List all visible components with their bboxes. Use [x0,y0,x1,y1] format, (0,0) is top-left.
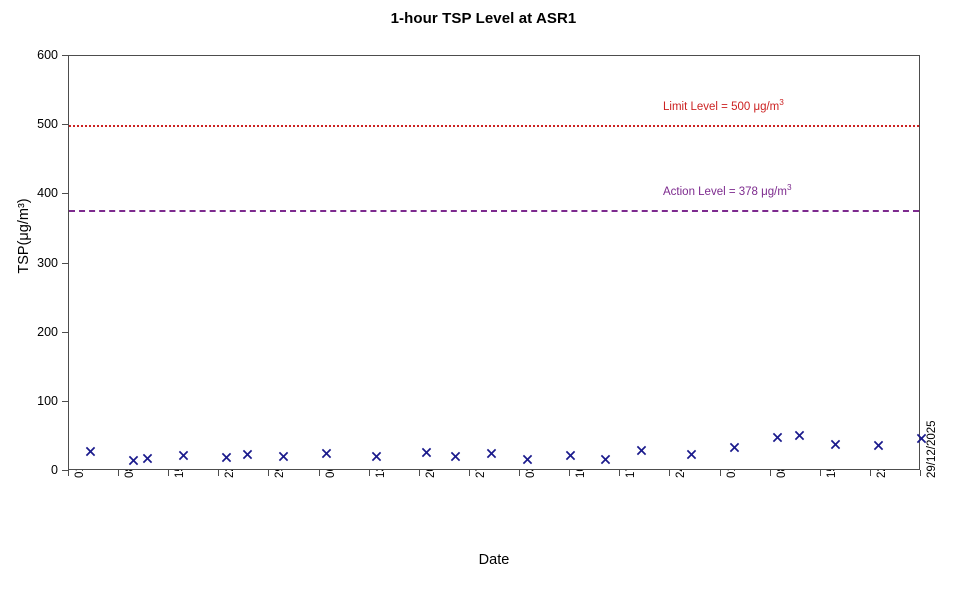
y-axis-tick-label: 400 [6,186,58,200]
data-point [916,433,927,444]
limit-level-label-exponent: 3 [779,98,784,107]
plot-area: Limit Level = 500 μg/m3Action Level = 37… [68,55,920,470]
limit-level-label-unit: μg/m [753,101,779,113]
limit-level-line [69,125,919,127]
y-axis-tick-label: 600 [6,48,58,62]
data-point [421,447,432,458]
x-axis-tick [720,470,721,476]
y-axis-tick-label: 100 [6,394,58,408]
limit-level-label: Limit Level = 500 μg/m3 [663,98,784,113]
data-point [221,452,232,463]
x-axis-tick [669,470,670,476]
x-axis-tick [319,470,320,476]
x-axis-tick [168,470,169,476]
action-level-line [69,210,919,212]
limit-level-label-text: Limit Level = 500 [663,101,753,113]
data-point [242,449,253,460]
data-point [278,451,289,462]
x-axis-tick [68,470,69,476]
y-axis-tick-label: 300 [6,256,58,270]
chart-figure: 1-hour TSP Level at ASR1 TSP(μg/m³) 0100… [0,0,967,594]
data-point [729,442,740,453]
data-point [321,448,332,459]
data-point [636,445,647,456]
data-point [794,430,805,441]
data-point [486,448,497,459]
action-level-label-exponent: 3 [787,183,792,192]
x-axis-tick [870,470,871,476]
x-axis-tick [569,470,570,476]
data-point [772,432,783,443]
data-point [128,455,139,466]
data-point [565,450,576,461]
x-axis-tick [820,470,821,476]
y-axis-tick-label: 200 [6,325,58,339]
data-point [450,451,461,462]
x-axis-tick [218,470,219,476]
x-axis-tick [369,470,370,476]
x-axis-tick [118,470,119,476]
data-point [830,439,841,450]
data-point [371,451,382,462]
data-point [686,449,697,460]
x-axis-title: Date [68,552,920,568]
data-point [873,440,884,451]
y-axis-tick-label: 0 [6,463,58,477]
action-level-label: Action Level = 378 μg/m3 [663,183,792,198]
x-axis-tick [519,470,520,476]
x-axis-tick [268,470,269,476]
data-point [178,450,189,461]
plot-inner: Limit Level = 500 μg/m3Action Level = 37… [69,56,919,469]
action-level-label-unit: μg/m [761,185,787,197]
data-point [85,446,96,457]
data-point [522,454,533,465]
data-point [600,454,611,465]
x-axis-tick [619,470,620,476]
x-axis-tick [920,470,921,476]
action-level-label-text: Action Level = 378 [663,185,761,197]
y-axis-tick-label: 500 [6,117,58,131]
x-axis-tick [469,470,470,476]
x-axis-title-text: Date [479,552,510,568]
x-axis-tick [419,470,420,476]
data-point [142,453,153,464]
x-axis-tick-label-text: 29/12/2025 [926,420,938,478]
x-axis-tick [770,470,771,476]
